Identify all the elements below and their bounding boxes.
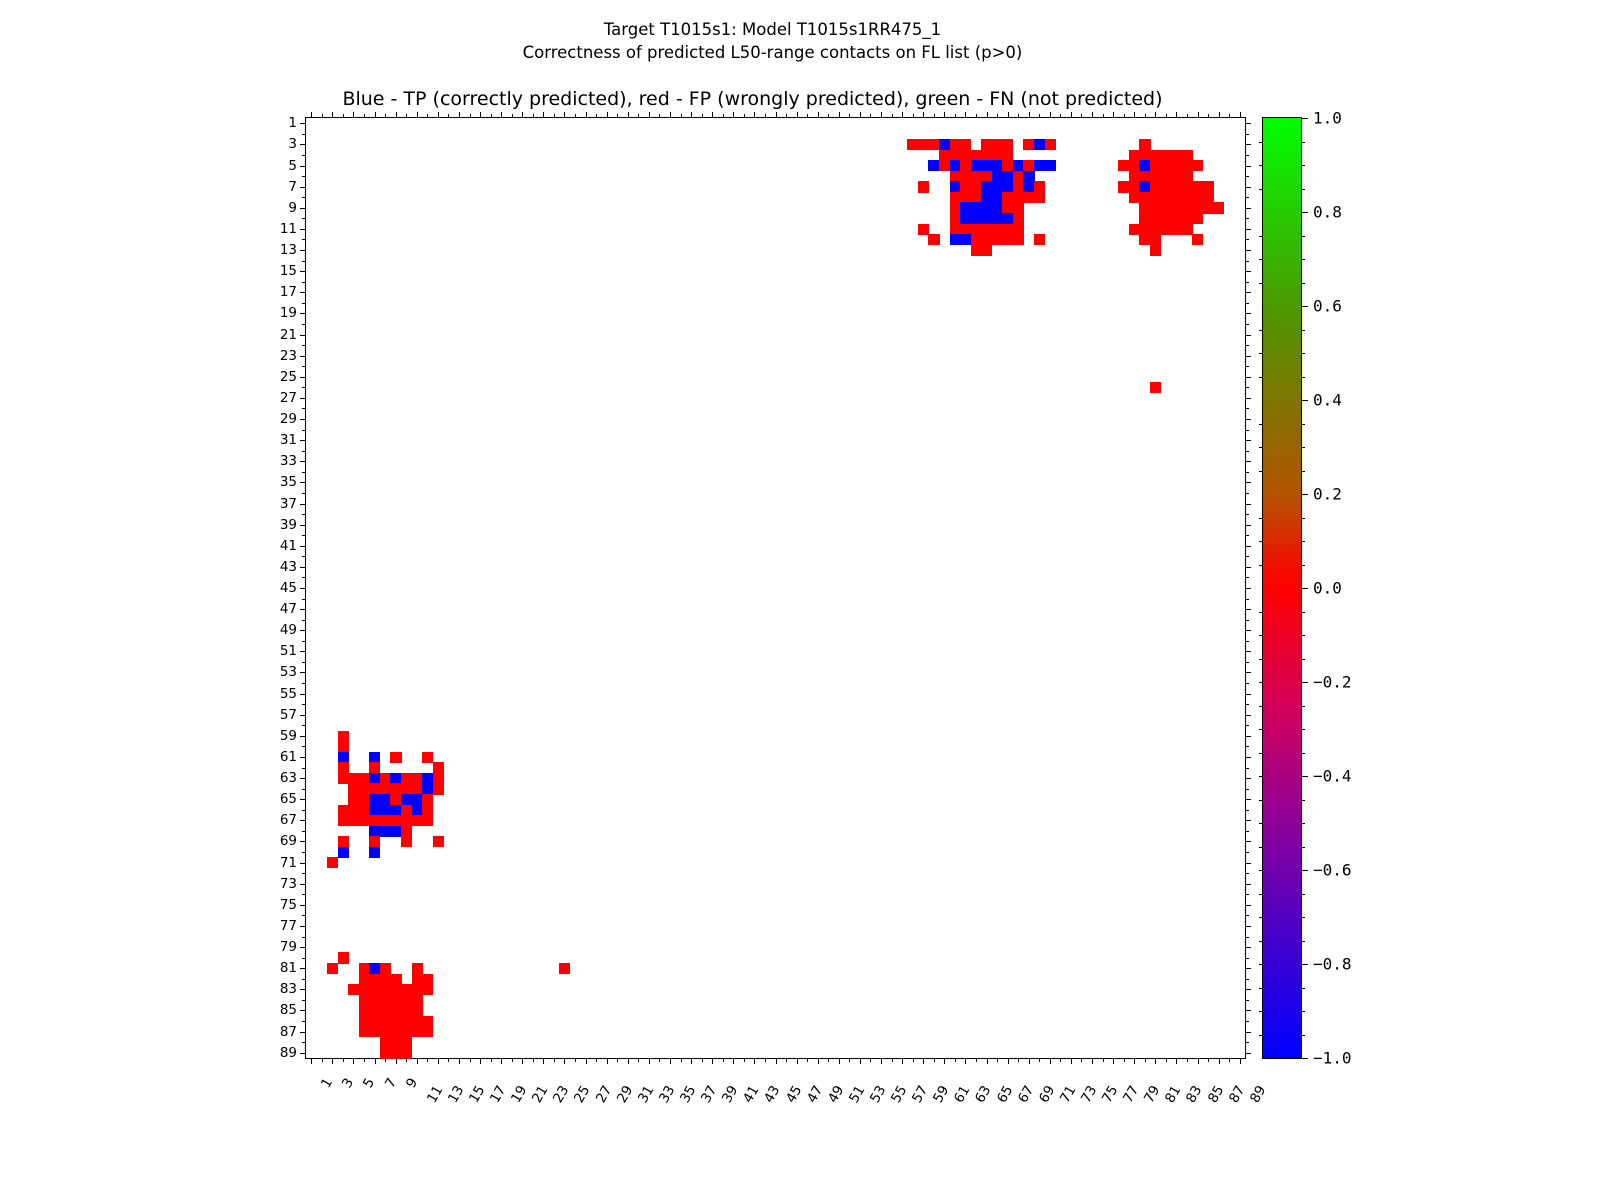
- colorbar-minor-tick-left: [1259, 847, 1263, 848]
- x-axis-tick: [807, 1058, 808, 1062]
- y-axis-tick: [300, 820, 306, 821]
- x-axis-tick: [712, 1058, 713, 1064]
- heatmap-cell: [1045, 139, 1056, 150]
- heatmap-cell: [401, 1016, 412, 1027]
- colorbar-minor-tick: [1301, 847, 1305, 848]
- heatmap-cell: [422, 815, 433, 826]
- heatmap-cell: [992, 213, 1003, 224]
- heatmap-cell: [390, 974, 401, 985]
- heatmap-cell: [950, 160, 961, 171]
- x-axis-tick: [375, 1058, 376, 1064]
- y-axis-tick: [302, 1021, 306, 1022]
- x-axis-tick-top: [364, 114, 365, 118]
- heatmap-cell: [1150, 245, 1161, 256]
- x-axis-tick-top: [923, 112, 924, 118]
- heatmap-cell: [1150, 171, 1161, 182]
- y-axis-tick-right: [1245, 303, 1249, 304]
- y-axis-tick: [302, 345, 306, 346]
- x-axis-tick-top: [385, 114, 386, 118]
- y-axis-tick-right: [1245, 599, 1249, 600]
- y-axis-label: 13: [280, 242, 297, 258]
- y-axis-label: 83: [280, 981, 297, 997]
- heatmap-cell: [981, 234, 992, 245]
- y-axis-tick-right: [1245, 356, 1251, 357]
- y-axis-tick-right: [1245, 197, 1249, 198]
- heatmap-cell: [412, 995, 423, 1006]
- y-axis-tick-right: [1245, 989, 1251, 990]
- y-axis-tick-right: [1245, 1021, 1249, 1022]
- x-axis-tick-top: [375, 112, 376, 118]
- heatmap-cell: [412, 805, 423, 816]
- x-axis-label: 15: [466, 1083, 488, 1106]
- heatmap-cell: [950, 192, 961, 203]
- x-axis-label: 11: [424, 1083, 446, 1106]
- colorbar-minor-tick: [1301, 165, 1305, 166]
- y-axis-tick-right: [1245, 1042, 1249, 1043]
- x-axis-tick: [828, 1058, 829, 1062]
- x-axis-tick: [554, 1058, 555, 1062]
- colorbar-minor-tick-left: [1259, 1035, 1263, 1036]
- heatmap-cell: [960, 150, 971, 161]
- heatmap-cell: [390, 752, 401, 763]
- x-axis-tick: [1219, 1058, 1220, 1064]
- colorbar-minor-tick: [1301, 988, 1305, 989]
- x-axis-tick: [364, 1058, 365, 1062]
- heatmap-cell: [1013, 234, 1024, 245]
- y-axis-tick-right: [1245, 937, 1249, 938]
- x-axis-tick: [681, 1058, 682, 1062]
- y-axis-tick: [302, 472, 306, 473]
- y-axis-tick: [300, 926, 306, 927]
- x-axis-tick-top: [406, 114, 407, 118]
- x-axis-tick-top: [1166, 114, 1167, 118]
- x-axis-tick-top: [512, 114, 513, 118]
- heatmap-cell: [1139, 171, 1150, 182]
- heatmap-cell: [422, 805, 433, 816]
- x-axis-label: 5: [360, 1075, 378, 1090]
- x-axis-label: 13: [445, 1083, 467, 1106]
- colorbar-minor-tick: [1301, 471, 1305, 472]
- x-axis-label: 83: [1183, 1083, 1205, 1106]
- heatmap-cell: [1002, 224, 1013, 235]
- y-axis-tick: [300, 187, 306, 188]
- colorbar-tick: [1301, 400, 1308, 401]
- colorbar-minor-tick-left: [1259, 353, 1263, 354]
- heatmap-cell: [1150, 202, 1161, 213]
- heatmap-cell: [369, 1005, 380, 1016]
- heatmap-cell: [380, 963, 391, 974]
- y-axis-tick: [300, 905, 306, 906]
- x-axis-tick-top: [396, 112, 397, 118]
- x-axis-tick-top: [997, 114, 998, 118]
- heatmap-cell: [1171, 213, 1182, 224]
- x-axis-tick-top: [1050, 112, 1051, 118]
- y-axis-tick: [302, 493, 306, 494]
- figure-subtitle: Blue - TP (correctly predicted), red - F…: [0, 88, 1505, 110]
- heatmap-cell: [1171, 160, 1182, 171]
- x-axis-label: 19: [508, 1083, 530, 1106]
- x-axis-label: 73: [1078, 1083, 1100, 1106]
- y-axis-tick: [302, 599, 306, 600]
- x-axis-tick-top: [733, 112, 734, 118]
- heatmap-cell: [1013, 202, 1024, 213]
- x-axis-label: 87: [1226, 1083, 1248, 1106]
- y-axis-tick-right: [1245, 810, 1249, 811]
- heatmap-cell: [1139, 139, 1150, 150]
- y-axis-tick: [302, 134, 306, 135]
- x-axis-tick-top: [459, 112, 460, 118]
- heatmap-cell: [390, 984, 401, 995]
- y-axis-label: 23: [280, 348, 297, 364]
- heatmap-cell: [359, 815, 370, 826]
- y-axis-label: 53: [280, 664, 297, 680]
- y-axis-label: 17: [280, 284, 297, 300]
- colorbar-minor-tick-left: [1259, 635, 1263, 636]
- heatmap-cell: [369, 773, 380, 784]
- heatmap-cell: [971, 245, 982, 256]
- heatmap-cell: [390, 773, 401, 784]
- y-axis-tick-right: [1245, 905, 1251, 906]
- x-axis-tick: [427, 1058, 428, 1062]
- x-axis-tick-top: [417, 112, 418, 118]
- x-axis-tick: [322, 1058, 323, 1062]
- heatmap-cell: [971, 171, 982, 182]
- heatmap-cell: [928, 160, 939, 171]
- heatmap-cell: [412, 963, 423, 974]
- heatmap-cell: [1139, 213, 1150, 224]
- x-axis-tick-top: [1103, 114, 1104, 118]
- colorbar-minor-tick-left: [1259, 447, 1263, 448]
- heatmap-cell: [1171, 150, 1182, 161]
- heatmap-cell: [348, 794, 359, 805]
- heatmap-cell: [422, 752, 433, 763]
- heatmap-cell: [422, 773, 433, 784]
- heatmap-cell: [327, 963, 338, 974]
- heatmap-cell: [992, 181, 1003, 192]
- x-axis-tick: [1113, 1058, 1114, 1064]
- y-axis-tick: [300, 799, 306, 800]
- heatmap-cell: [1182, 150, 1193, 161]
- x-axis-tick: [1198, 1058, 1199, 1064]
- heatmap-cell: [359, 794, 370, 805]
- title-line-1: Target T1015s1: Model T1015s1RR475_1: [0, 18, 1545, 41]
- x-axis-label: 17: [487, 1083, 509, 1106]
- x-axis-tick: [1145, 1058, 1146, 1062]
- y-axis-tick-right: [1245, 873, 1249, 874]
- y-axis-label: 29: [280, 411, 297, 427]
- heatmap-cell: [1150, 181, 1161, 192]
- x-axis-tick: [913, 1058, 914, 1062]
- y-axis-label: 59: [280, 728, 297, 744]
- x-axis-tick-top: [533, 114, 534, 118]
- y-axis-tick-right: [1245, 472, 1249, 473]
- x-axis-label: 29: [614, 1083, 636, 1106]
- heatmap-cell: [1013, 181, 1024, 192]
- heatmap-cell: [369, 815, 380, 826]
- y-axis-tick-right: [1245, 1000, 1249, 1001]
- colorbar-minor-tick: [1301, 776, 1305, 777]
- x-axis-tick: [617, 1058, 618, 1062]
- y-axis-tick-right: [1245, 863, 1251, 864]
- y-axis-label: 3: [288, 136, 297, 152]
- x-axis-tick-top: [1018, 114, 1019, 118]
- heatmap-cell: [338, 836, 349, 847]
- heatmap-cell: [412, 1026, 423, 1037]
- heatmap-cell: [1192, 181, 1203, 192]
- x-axis-tick: [564, 1058, 565, 1064]
- y-axis-tick: [300, 356, 306, 357]
- y-axis-tick-right: [1245, 324, 1249, 325]
- heatmap-cell: [380, 773, 391, 784]
- heatmap-cell: [1182, 192, 1193, 203]
- y-axis-tick-right: [1245, 155, 1249, 156]
- y-axis-tick: [300, 440, 306, 441]
- heatmap-cell: [981, 160, 992, 171]
- colorbar-tick: [1301, 494, 1308, 495]
- heatmap-cell: [1171, 202, 1182, 213]
- y-axis-tick-right: [1245, 694, 1251, 695]
- y-axis-label: 71: [280, 855, 297, 871]
- x-axis-tick-top: [892, 114, 893, 118]
- y-axis-tick-right: [1245, 313, 1251, 314]
- heatmap-cell: [380, 995, 391, 1006]
- colorbar-tick: [1301, 1058, 1308, 1059]
- x-axis-tick-top: [1008, 112, 1009, 118]
- heatmap-cell: [1034, 192, 1045, 203]
- y-axis-tick: [300, 377, 306, 378]
- x-axis-tick: [438, 1058, 439, 1064]
- colorbar-minor-tick: [1301, 894, 1305, 895]
- heatmap-cell: [1129, 171, 1140, 182]
- y-axis-tick: [300, 504, 306, 505]
- x-axis-tick-top: [955, 114, 956, 118]
- heatmap-cell: [559, 963, 570, 974]
- x-axis-tick: [1155, 1058, 1156, 1064]
- heatmap-cell: [960, 181, 971, 192]
- colorbar-label: 1.0: [1313, 109, 1342, 128]
- x-axis-tick: [944, 1058, 945, 1064]
- x-axis-tick-top: [480, 112, 481, 118]
- x-axis-tick: [860, 1058, 861, 1064]
- y-axis-tick: [300, 1032, 306, 1033]
- x-axis-label: 31: [635, 1083, 657, 1106]
- heatmap-plot-area: 1357911131517192123252729313335373941434…: [305, 117, 1246, 1059]
- x-axis-tick: [353, 1058, 354, 1064]
- y-axis-tick: [300, 863, 306, 864]
- y-axis-tick: [302, 831, 306, 832]
- x-axis-tick: [1081, 1058, 1082, 1062]
- heatmap-cell: [359, 1026, 370, 1037]
- y-axis-tick: [302, 218, 306, 219]
- x-axis-tick-top: [427, 114, 428, 118]
- heatmap-cell: [1161, 181, 1172, 192]
- heatmap-cell: [1203, 192, 1214, 203]
- x-axis-tick-top: [322, 114, 323, 118]
- colorbar-minor-tick-left: [1259, 541, 1263, 542]
- y-axis-tick-right: [1245, 672, 1251, 673]
- x-axis-label: 33: [656, 1083, 678, 1106]
- y-axis-tick: [300, 482, 306, 483]
- heatmap-cell: [380, 805, 391, 816]
- colorbar-label: −0.2: [1313, 673, 1352, 692]
- heatmap-cell: [960, 213, 971, 224]
- x-axis-tick: [607, 1058, 608, 1064]
- x-axis-tick: [1071, 1058, 1072, 1064]
- heatmap-cell: [950, 234, 961, 245]
- x-axis-label: 7: [382, 1075, 400, 1090]
- x-axis-tick-top: [723, 114, 724, 118]
- y-axis-tick-right: [1245, 282, 1249, 283]
- x-axis-tick-top: [765, 114, 766, 118]
- heatmap-cell: [433, 836, 444, 847]
- x-axis-tick-top: [839, 112, 840, 118]
- colorbar-minor-tick-left: [1259, 682, 1263, 683]
- colorbar-minor-tick-left: [1259, 870, 1263, 871]
- x-axis-tick-top: [902, 112, 903, 118]
- heatmap-cell: [348, 805, 359, 816]
- x-axis-tick-top: [976, 114, 977, 118]
- x-axis-tick: [786, 1058, 787, 1062]
- x-axis-tick: [596, 1058, 597, 1062]
- colorbar-minor-tick: [1301, 659, 1305, 660]
- heatmap-cell: [981, 139, 992, 150]
- y-axis-tick: [300, 546, 306, 547]
- x-axis-tick: [638, 1058, 639, 1062]
- y-axis-tick-right: [1245, 482, 1251, 483]
- y-axis-tick-right: [1245, 440, 1251, 441]
- colorbar-minor-tick: [1301, 1011, 1305, 1012]
- heatmap-cell: [1171, 181, 1182, 192]
- x-axis-tick: [881, 1058, 882, 1064]
- heatmap-cell: [950, 150, 961, 161]
- heatmap-cell: [1034, 181, 1045, 192]
- heatmap-cell: [950, 171, 961, 182]
- heatmap-cell: [981, 150, 992, 161]
- x-axis-tick-top: [543, 112, 544, 118]
- heatmap-cell: [369, 826, 380, 837]
- x-axis-tick: [839, 1058, 840, 1064]
- x-axis-tick: [1229, 1058, 1230, 1062]
- y-axis-label: 35: [280, 474, 297, 490]
- x-axis-label: 51: [846, 1083, 868, 1106]
- x-axis-label: 39: [719, 1083, 741, 1106]
- y-axis-tick: [302, 1000, 306, 1001]
- x-axis-label: 37: [698, 1083, 720, 1106]
- x-axis-tick: [1166, 1058, 1167, 1062]
- heatmap-cell: [1139, 224, 1150, 235]
- x-axis-label: 89: [1247, 1083, 1269, 1106]
- colorbar-minor-tick-left: [1259, 259, 1263, 260]
- heatmap-cell: [369, 836, 380, 847]
- x-axis-label: 27: [593, 1083, 615, 1106]
- heatmap-cell: [338, 731, 349, 742]
- y-axis-tick-right: [1245, 768, 1249, 769]
- colorbar-minor-tick: [1301, 941, 1305, 942]
- y-axis-tick: [302, 768, 306, 769]
- y-axis-label: 61: [280, 749, 297, 765]
- x-axis-tick-top: [1039, 114, 1040, 118]
- heatmap-cell: [380, 826, 391, 837]
- x-axis-tick: [1060, 1058, 1061, 1062]
- y-axis-tick: [302, 704, 306, 705]
- x-axis-tick: [702, 1058, 703, 1062]
- y-axis-label: 7: [288, 179, 297, 195]
- y-axis-tick-right: [1245, 218, 1249, 219]
- heatmap-cell: [401, 995, 412, 1006]
- heatmap-cell: [1182, 160, 1193, 171]
- heatmap-cell: [1013, 160, 1024, 171]
- x-axis-tick: [997, 1058, 998, 1062]
- x-axis-tick-top: [1187, 114, 1188, 118]
- x-axis-tick-top: [670, 112, 671, 118]
- heatmap-cell: [950, 202, 961, 213]
- heatmap-cell: [369, 984, 380, 995]
- colorbar-minor-tick-left: [1259, 377, 1263, 378]
- y-axis-label: 9: [288, 200, 297, 216]
- heatmap-cell: [412, 1005, 423, 1016]
- y-axis-label: 79: [280, 939, 297, 955]
- heatmap-cell: [971, 234, 982, 245]
- x-axis-tick: [923, 1058, 924, 1064]
- colorbar-minor-tick: [1301, 729, 1305, 730]
- y-axis-tick: [302, 387, 306, 388]
- x-axis-tick-top: [1208, 114, 1209, 118]
- x-axis-tick-top: [807, 114, 808, 118]
- colorbar-minor-tick: [1301, 142, 1305, 143]
- heatmap-cell: [390, 794, 401, 805]
- heatmap-cell: [433, 783, 444, 794]
- heatmap-cell: [950, 224, 961, 235]
- y-axis-tick: [302, 1042, 306, 1043]
- y-axis-tick: [302, 641, 306, 642]
- x-axis-tick-top: [797, 112, 798, 118]
- heatmap-cell: [992, 192, 1003, 203]
- heatmap-cell: [1182, 213, 1193, 224]
- colorbar-minor-tick: [1301, 800, 1305, 801]
- heatmap-cell: [918, 181, 929, 192]
- heatmap-cell: [390, 826, 401, 837]
- heatmap-cell: [1150, 234, 1161, 245]
- x-axis-tick: [491, 1058, 492, 1062]
- x-axis-tick-top: [554, 114, 555, 118]
- x-axis-tick: [892, 1058, 893, 1062]
- heatmap-cell: [992, 171, 1003, 182]
- heatmap-cell: [369, 794, 380, 805]
- x-axis-tick: [976, 1058, 977, 1062]
- x-axis-tick-top: [754, 112, 755, 118]
- y-axis-tick-right: [1245, 704, 1249, 705]
- y-axis-tick-right: [1245, 261, 1249, 262]
- colorbar-minor-tick-left: [1259, 1011, 1263, 1012]
- heatmap-cell: [1023, 139, 1034, 150]
- x-axis-tick-top: [491, 114, 492, 118]
- heatmap-cell: [338, 815, 349, 826]
- colorbar-minor-tick: [1301, 753, 1305, 754]
- y-axis-tick: [302, 261, 306, 262]
- x-axis-tick-top: [1219, 112, 1220, 118]
- x-axis-label: 45: [783, 1083, 805, 1106]
- x-axis-tick: [1176, 1058, 1177, 1064]
- heatmap-cell: [1192, 160, 1203, 171]
- y-axis-tick-right: [1245, 187, 1251, 188]
- x-axis-tick-top: [1145, 114, 1146, 118]
- x-axis-tick: [480, 1058, 481, 1064]
- colorbar-minor-tick: [1301, 635, 1305, 636]
- y-axis-tick: [300, 609, 306, 610]
- heatmap-cell: [1182, 202, 1193, 213]
- heatmap-cell: [412, 783, 423, 794]
- y-axis-tick: [302, 197, 306, 198]
